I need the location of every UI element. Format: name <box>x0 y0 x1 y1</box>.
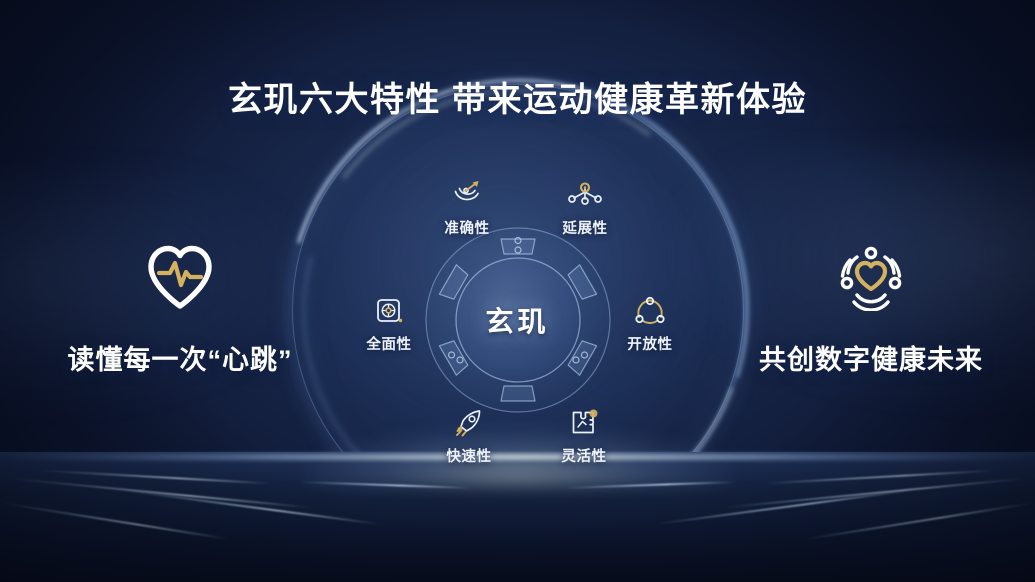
feature-node-comprehensiveness[interactable]: 全面性 <box>337 296 441 354</box>
hub-ring-graphic <box>425 227 611 413</box>
puzzle-piece-icon <box>532 408 636 438</box>
heart-connectivity-icon <box>721 243 1021 316</box>
right-statement-text: 共创数字健康未来 <box>721 338 1021 377</box>
network-nodes-icon <box>533 180 637 210</box>
left-statement-text: 读懂每一次“心跳” <box>20 338 340 377</box>
page-title: 玄玑六大特性 带来运动健康革新体验 <box>0 72 1035 121</box>
feature-node-extensibility[interactable]: 延展性 <box>533 180 637 238</box>
rocket-icon <box>417 408 521 438</box>
feature-label: 延展性 <box>533 217 637 238</box>
share-triangle-icon <box>598 296 702 326</box>
feature-node-speed[interactable]: 快速性 <box>417 408 521 466</box>
feature-node-accuracy[interactable]: 准确性 <box>415 180 519 238</box>
feature-label: 全面性 <box>337 333 441 354</box>
heart-pulse-icon <box>20 243 340 316</box>
slide-stage: 玄玑六大特性 带来运动健康革新体验 读懂每一次“心跳” <box>0 0 1035 582</box>
feature-label: 灵活性 <box>532 445 636 466</box>
right-statement-block: 共创数字健康未来 <box>721 243 1021 377</box>
left-statement-block: 读懂每一次“心跳” <box>20 243 340 377</box>
feature-node-openness[interactable]: 开放性 <box>598 296 702 354</box>
feature-label: 准确性 <box>415 217 519 238</box>
aperture-frame-icon <box>337 296 441 326</box>
target-dart-icon <box>415 180 519 210</box>
xuanji-core-hub[interactable]: 玄玑 <box>425 227 611 413</box>
feature-node-flexibility[interactable]: 灵活性 <box>532 408 636 466</box>
feature-label: 快速性 <box>417 445 521 466</box>
feature-label: 开放性 <box>598 333 702 354</box>
